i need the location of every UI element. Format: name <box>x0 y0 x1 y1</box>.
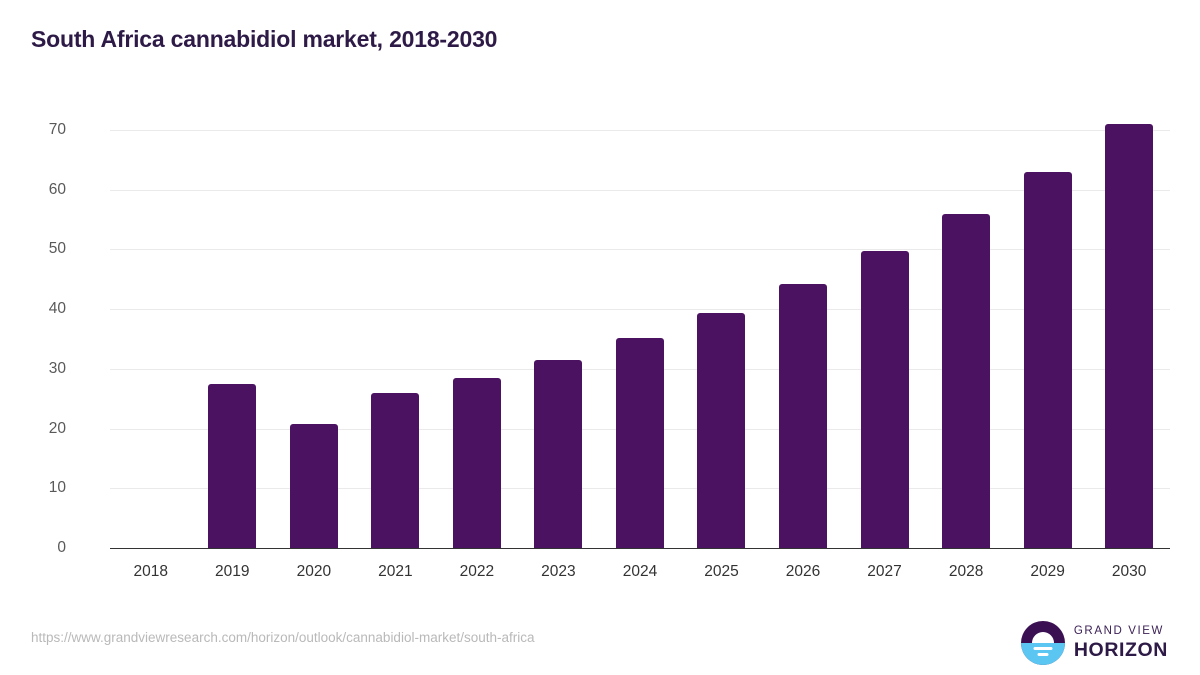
y-axis-tick-label: 30 <box>0 360 66 378</box>
bar-2019[interactable] <box>208 384 256 548</box>
y-axis-tick-label: 40 <box>0 300 66 318</box>
bar-2023[interactable] <box>534 360 582 548</box>
bar-slot <box>1088 112 1170 548</box>
x-axis-tick-label-2027: 2027 <box>844 563 926 581</box>
x-axis-tick-label-2023: 2023 <box>518 563 600 581</box>
y-axis-tick-label: 60 <box>0 181 66 199</box>
bar-slot <box>355 112 437 548</box>
y-axis-tick-label: 20 <box>0 420 66 438</box>
y-axis-tick-label: 0 <box>0 539 66 557</box>
y-axis-tick-label: 50 <box>0 240 66 258</box>
bar-2026[interactable] <box>779 284 827 548</box>
horizon-sun-circle-icon <box>1021 621 1065 665</box>
bar-slot <box>681 112 763 548</box>
x-axis-tick-label-2021: 2021 <box>355 563 437 581</box>
plot-wrapper: Market Size (US$M) 010203040506070 20182… <box>0 0 1200 675</box>
bar-slot <box>192 112 274 548</box>
x-axis-tick-label-2020: 2020 <box>273 563 355 581</box>
x-axis-tick-label-2022: 2022 <box>436 563 518 581</box>
x-axis-tick-label-2026: 2026 <box>762 563 844 581</box>
logo-ray-upper <box>1033 647 1052 650</box>
logo-brand-bottom: HORIZON <box>1074 641 1168 661</box>
x-axis-tick-label-2024: 2024 <box>599 563 681 581</box>
x-axis-tick-label-2019: 2019 <box>192 563 274 581</box>
bar-series <box>110 112 1170 548</box>
bar-slot <box>599 112 681 548</box>
x-axis-tick-label-2030: 2030 <box>1088 563 1170 581</box>
x-axis-tick-labels: 2018201920202021202220232024202520262027… <box>110 563 1170 581</box>
logo-brand-top: GRAND VIEW <box>1074 626 1168 638</box>
bar-slot <box>844 112 926 548</box>
x-axis-tick-label-2028: 2028 <box>925 563 1007 581</box>
bar-slot <box>110 112 192 548</box>
bar-slot <box>762 112 844 548</box>
bar-slot <box>273 112 355 548</box>
logo-wordmark: GRAND VIEW HORIZON <box>1074 626 1168 660</box>
bar-slot <box>925 112 1007 548</box>
bar-2025[interactable] <box>697 313 745 548</box>
bar-2021[interactable] <box>371 393 419 548</box>
bar-2030[interactable] <box>1105 124 1153 548</box>
y-axis-tick-label: 10 <box>0 479 66 497</box>
bar-2029[interactable] <box>1024 172 1072 548</box>
x-axis-tick-label-2029: 2029 <box>1007 563 1089 581</box>
y-axis-tick-label: 70 <box>0 121 66 139</box>
bar-slot <box>518 112 600 548</box>
grand-view-horizon-logo[interactable]: GRAND VIEW HORIZON <box>1021 620 1168 666</box>
x-axis-tick-label-2018: 2018 <box>110 563 192 581</box>
bar-2027[interactable] <box>861 251 909 548</box>
bar-2028[interactable] <box>942 214 990 548</box>
x-axis-tick-label-2025: 2025 <box>681 563 763 581</box>
bar-slot <box>436 112 518 548</box>
bar-2022[interactable] <box>453 378 501 548</box>
bar-2020[interactable] <box>290 424 338 548</box>
logo-ray-lower <box>1037 653 1048 656</box>
bar-slot <box>1007 112 1089 548</box>
logo-sun-dome-shape <box>1032 632 1054 643</box>
chart-canvas: South Africa cannabidiol market, 2018-20… <box>0 0 1200 675</box>
bar-2024[interactable] <box>616 338 664 548</box>
source-url[interactable]: https://www.grandviewresearch.com/horizo… <box>31 630 535 645</box>
